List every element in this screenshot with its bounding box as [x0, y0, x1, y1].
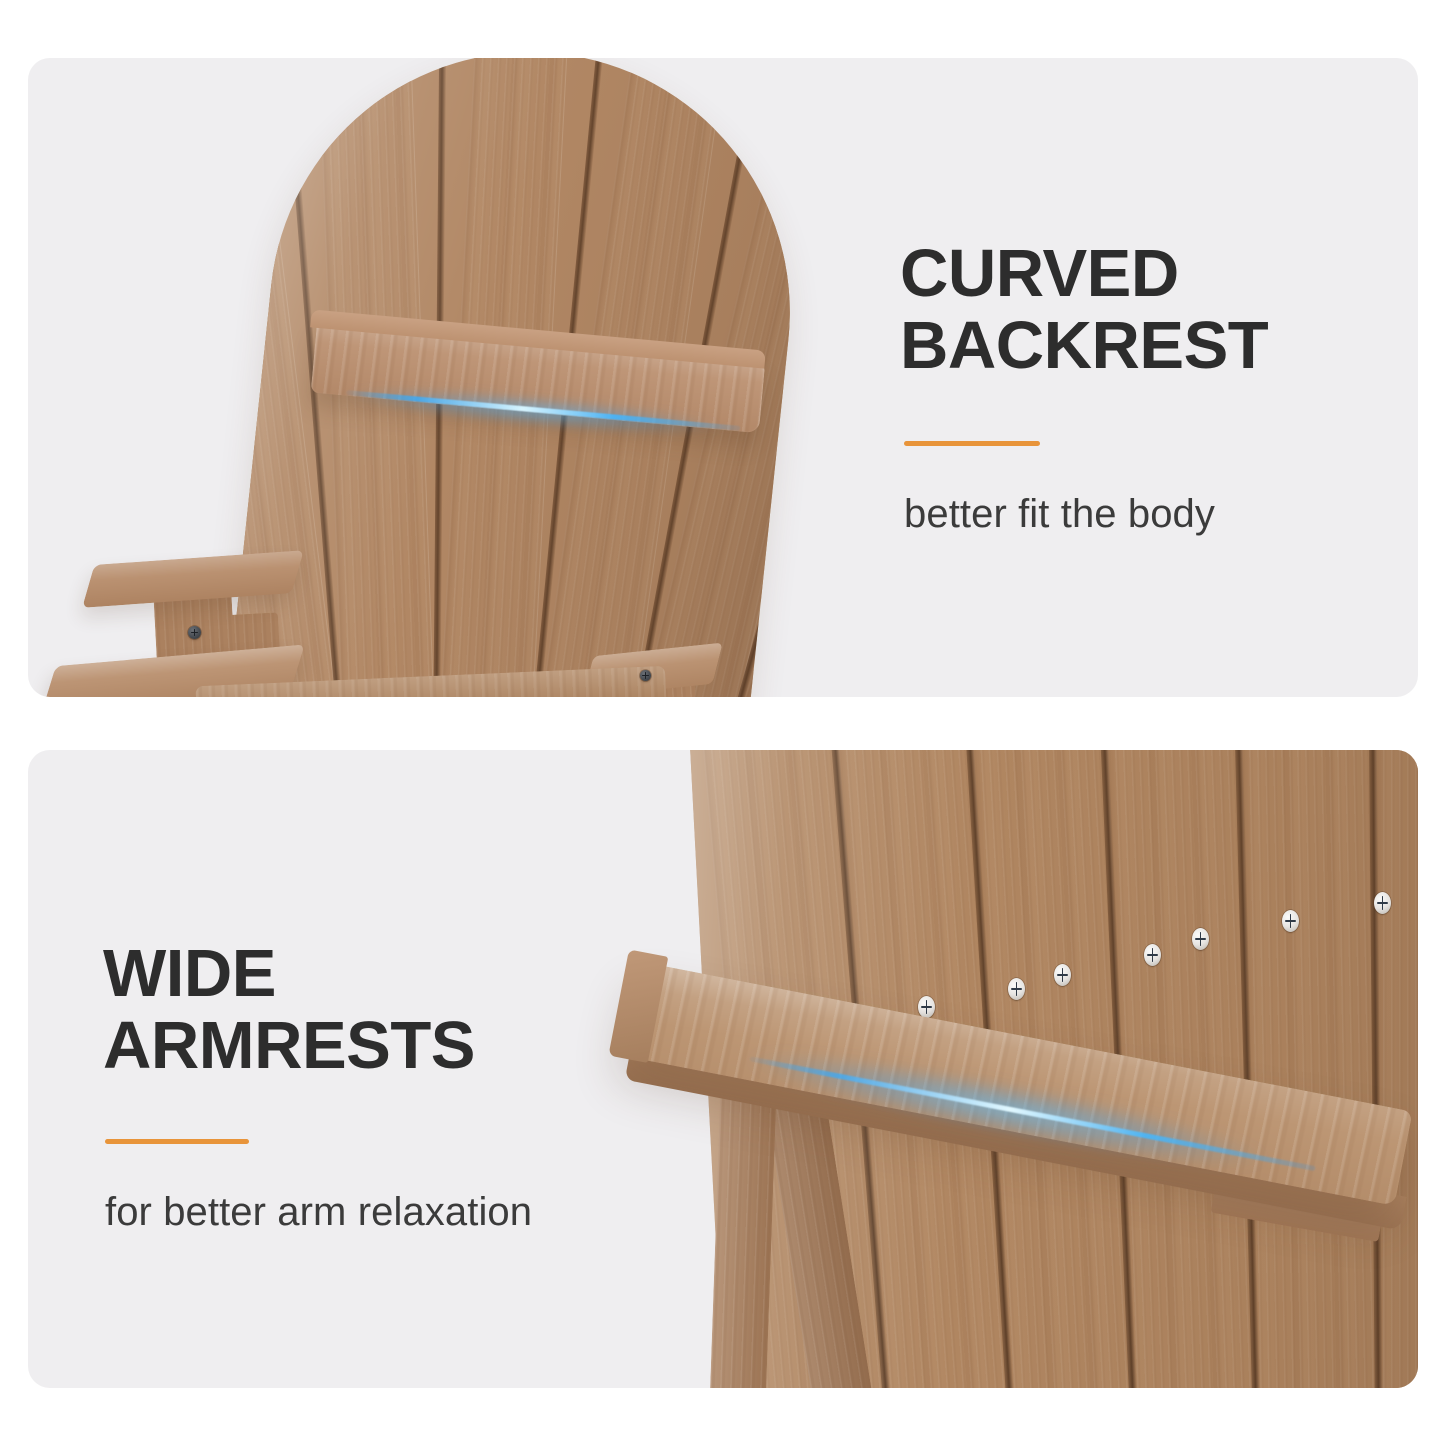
screw-icon: [1192, 928, 1209, 950]
panel-wide-armrests: WIDE ARMRESTS for better arm relaxation: [28, 750, 1418, 1388]
backrest-slat: [1239, 750, 1382, 1388]
armrests-headline: WIDE ARMRESTS: [103, 938, 663, 1083]
screw-icon: [188, 626, 201, 639]
backrest-headline: CURVED BACKREST: [900, 238, 1340, 383]
screw-icon: [640, 670, 651, 681]
screw-icon: [1054, 964, 1071, 986]
screw-icon: [918, 996, 935, 1018]
panel-curved-backrest: CURVED BACKREST better fit the body: [28, 58, 1418, 697]
armrests-accent-divider: [105, 1139, 249, 1144]
screw-icon: [1282, 910, 1299, 932]
screw-icon: [1144, 944, 1161, 966]
backrest-accent-divider: [904, 441, 1040, 446]
screw-icon: [1374, 892, 1391, 914]
product-feature-page: CURVED BACKREST better fit the body: [0, 0, 1445, 1445]
armrest-product-image: [588, 750, 1418, 1388]
backrest-subtitle: better fit the body: [904, 492, 1340, 537]
backrest-text-block: CURVED BACKREST better fit the body: [900, 238, 1340, 537]
backrest-product-image: [28, 58, 928, 697]
armrests-subtitle: for better arm relaxation: [105, 1190, 663, 1235]
armrests-text-block: WIDE ARMRESTS for better arm relaxation: [103, 938, 663, 1235]
screw-icon: [1008, 978, 1025, 1000]
